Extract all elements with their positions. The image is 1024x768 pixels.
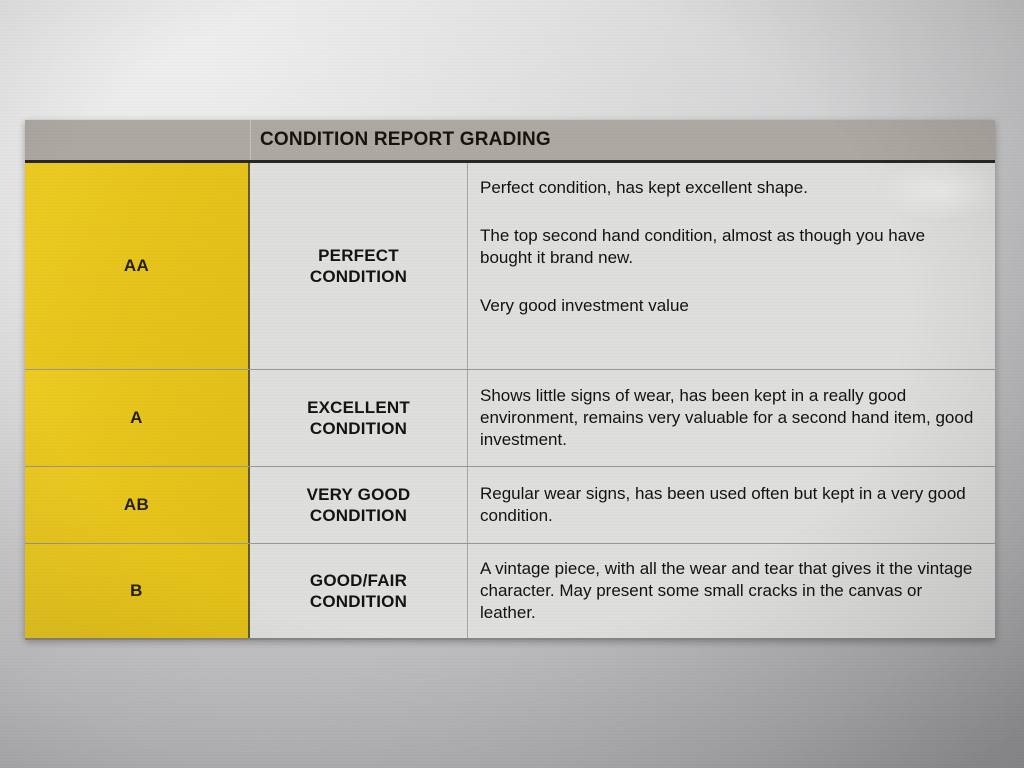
condition-name-line2: CONDITION: [310, 592, 407, 611]
condition-name-label: VERY GOOD CONDITION: [307, 484, 411, 527]
condition-name-label: PERFECT CONDITION: [310, 245, 407, 288]
description-paragraph: Shows little signs of wear, has been kep…: [480, 385, 981, 451]
condition-name-line2: CONDITION: [310, 419, 407, 438]
condition-name-cell-b: GOOD/FAIR CONDITION: [250, 544, 468, 638]
description-paragraph: Perfect condition, has kept excellent sh…: [480, 177, 981, 199]
page-title: CONDITION REPORT GRADING: [260, 129, 551, 151]
condition-name-cell-a: EXCELLENT CONDITION: [250, 370, 468, 466]
table-row: A EXCELLENT CONDITION Shows little signs…: [25, 370, 995, 467]
condition-description-cell-b: A vintage piece, with all the wear and t…: [468, 544, 995, 638]
grade-code-label: B: [130, 581, 143, 601]
condition-description-cell-ab: Regular wear signs, has been used often …: [468, 467, 995, 543]
condition-name-line1: EXCELLENT: [307, 398, 410, 417]
condition-name-line2: CONDITION: [310, 506, 407, 525]
grade-code-cell-a: A: [25, 370, 250, 466]
condition-name-label: GOOD/FAIR CONDITION: [310, 570, 407, 613]
condition-name-cell-aa: PERFECT CONDITION: [250, 163, 468, 369]
grade-code-label: AA: [124, 256, 149, 276]
table-row: AA PERFECT CONDITION Perfect condition, …: [25, 163, 995, 370]
condition-name-line1: VERY GOOD: [307, 485, 411, 504]
table-row: AB VERY GOOD CONDITION Regular wear sign…: [25, 467, 995, 544]
header-column-seam: [250, 120, 251, 160]
condition-report-grading-table: CONDITION REPORT GRADING AA PERFECT COND…: [25, 120, 995, 640]
grade-code-label: AB: [124, 495, 149, 515]
description-paragraph: Very good investment value: [480, 295, 981, 317]
grade-code-cell-ab: AB: [25, 467, 250, 543]
grade-code-cell-b: B: [25, 544, 250, 638]
condition-name-line1: PERFECT: [318, 246, 399, 265]
table-body: AA PERFECT CONDITION Perfect condition, …: [25, 163, 995, 640]
table-header: CONDITION REPORT GRADING: [25, 120, 995, 163]
condition-name-line2: CONDITION: [310, 267, 407, 286]
grade-code-label: A: [130, 408, 143, 428]
condition-name-label: EXCELLENT CONDITION: [307, 397, 410, 440]
grade-code-cell-aa: AA: [25, 163, 250, 369]
description-paragraph: A vintage piece, with all the wear and t…: [480, 558, 981, 624]
condition-name-cell-ab: VERY GOOD CONDITION: [250, 467, 468, 543]
description-paragraph: Regular wear signs, has been used often …: [480, 483, 981, 527]
condition-description-cell-a: Shows little signs of wear, has been kep…: [468, 370, 995, 466]
condition-description-cell-aa: Perfect condition, has kept excellent sh…: [468, 163, 995, 369]
description-paragraph: The top second hand condition, almost as…: [480, 225, 981, 269]
condition-name-line1: GOOD/FAIR: [310, 571, 407, 590]
table-row: B GOOD/FAIR CONDITION A vintage piece, w…: [25, 544, 995, 640]
